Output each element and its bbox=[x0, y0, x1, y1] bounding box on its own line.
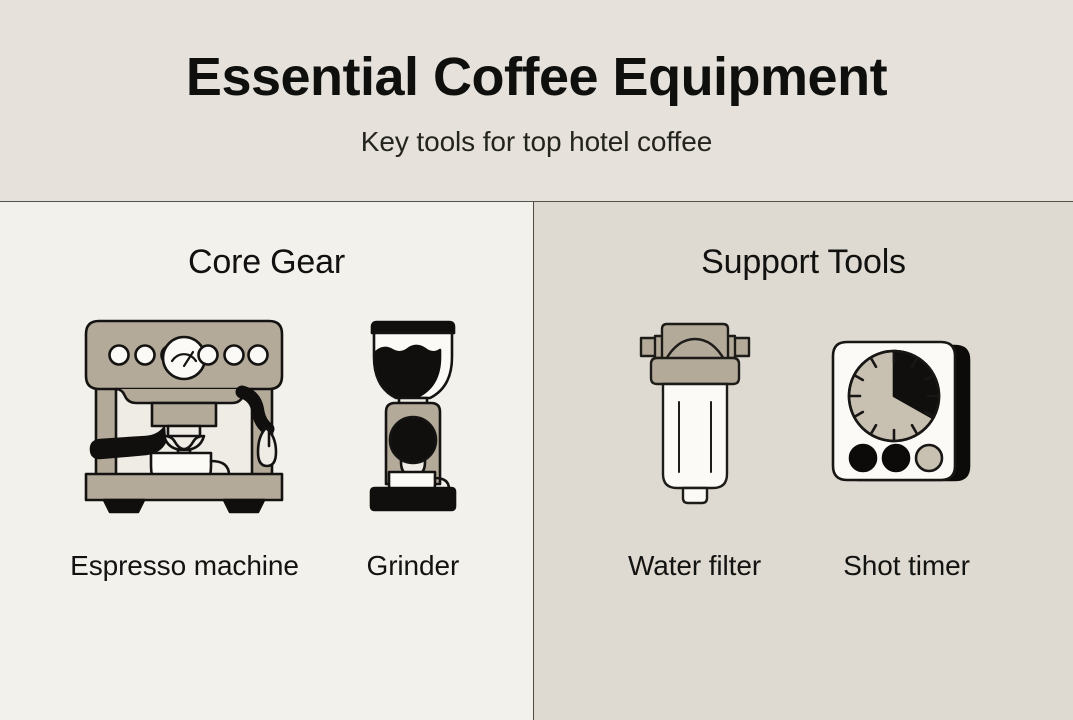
item-grinder[interactable]: Grinder bbox=[355, 306, 471, 582]
page-subtitle: Key tools for top hotel coffee bbox=[361, 126, 712, 158]
header: Essential Coffee Equipment Key tools for… bbox=[0, 0, 1073, 202]
shot-timer-icon bbox=[829, 306, 985, 516]
grinder-icon bbox=[355, 306, 471, 516]
water-filter-icon bbox=[627, 306, 763, 516]
panel-heading-support-tools: Support Tools bbox=[701, 243, 906, 282]
item-label-water-filter: Water filter bbox=[628, 550, 761, 582]
item-list-core-gear: Espresso machine bbox=[0, 306, 533, 582]
item-list-support-tools: Water filter bbox=[534, 306, 1073, 582]
item-label-shot-timer: Shot timer bbox=[843, 550, 970, 582]
item-water-filter[interactable]: Water filter bbox=[627, 306, 763, 582]
panel-heading-core-gear: Core Gear bbox=[188, 243, 345, 282]
item-label-grinder: Grinder bbox=[367, 550, 460, 582]
panels-container: Core Gear bbox=[0, 202, 1073, 720]
item-espresso-machine[interactable]: Espresso machine bbox=[70, 306, 299, 582]
infographic-poster: Essential Coffee Equipment Key tools for… bbox=[0, 0, 1073, 720]
espresso-machine-icon bbox=[72, 306, 296, 516]
panel-support-tools: Support Tools bbox=[534, 202, 1073, 720]
item-label-espresso-machine: Espresso machine bbox=[70, 550, 299, 582]
page-title: Essential Coffee Equipment bbox=[186, 49, 887, 106]
panel-core-gear: Core Gear bbox=[0, 202, 534, 720]
item-shot-timer[interactable]: Shot timer bbox=[829, 306, 985, 582]
